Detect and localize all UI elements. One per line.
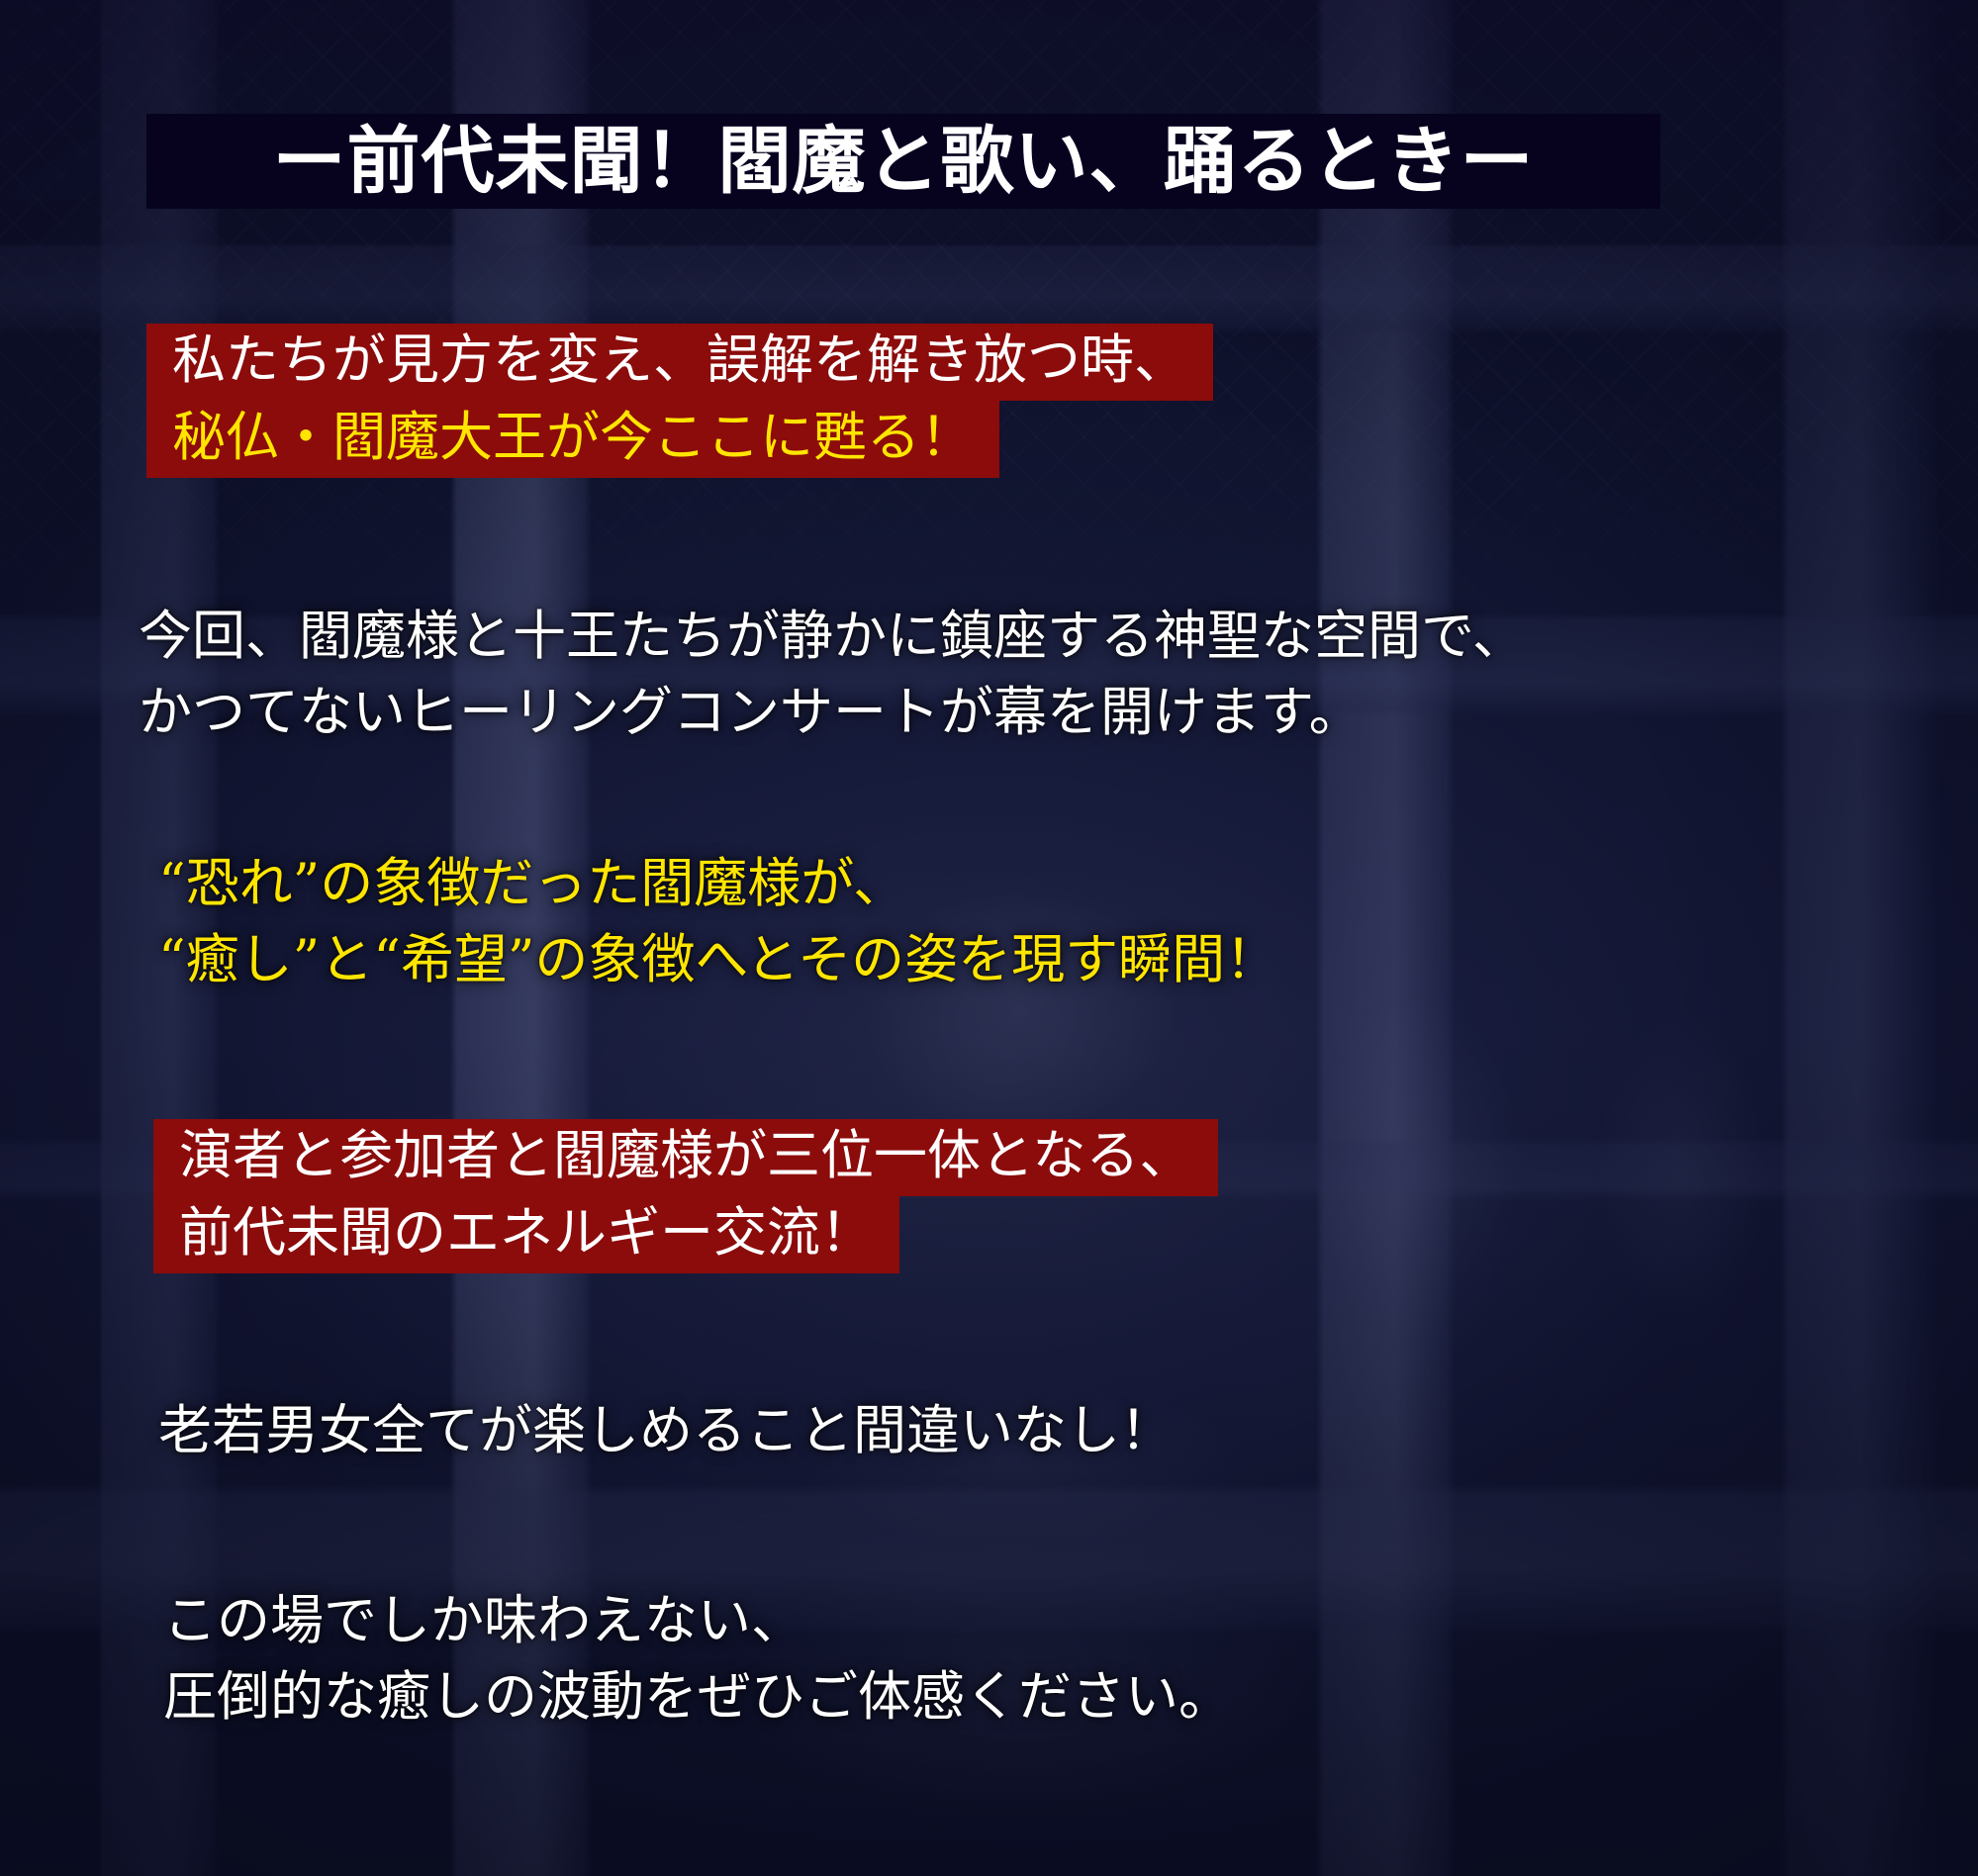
highlight-block-1: 私たちが見方を変え、誤解を解き放つ時、 秘仏・閻魔大王が今ここに甦る！ bbox=[146, 324, 1213, 478]
highlight-line: 演者と参加者と閻魔様が三位一体となる、 bbox=[153, 1119, 1218, 1196]
title-band: ー前代未聞！閻魔と歌い、踊るときー bbox=[146, 114, 1660, 209]
paragraph-closing: この場でしか味わえない、 圧倒的な癒しの波動をぜひご体感ください。 bbox=[163, 1583, 1232, 1735]
paragraph-line: 圧倒的な癒しの波動をぜひご体感ください。 bbox=[163, 1659, 1232, 1735]
paragraph-intro: 今回、閻魔様と十王たちが静かに鎮座する神聖な空間で、 かつてないヒーリングコンサ… bbox=[139, 599, 1526, 750]
highlight-block-2: 演者と参加者と閻魔様が三位一体となる、 前代未聞のエネルギー交流！ bbox=[153, 1119, 1218, 1273]
poster-root: ー前代未聞！閻魔と歌い、踊るときー 私たちが見方を変え、誤解を解き放つ時、 秘仏… bbox=[0, 0, 1978, 1876]
page-title: ー前代未聞！閻魔と歌い、踊るときー bbox=[273, 125, 1535, 198]
highlight-line: 前代未聞のエネルギー交流！ bbox=[153, 1196, 899, 1273]
paragraph-line: かつてないヒーリングコンサートが幕を開けます。 bbox=[139, 675, 1526, 751]
paragraph-line: “癒し”と“希望”の象徴へとその姿を現す瞬間！ bbox=[158, 922, 1278, 998]
poster-content: ー前代未聞！閻魔と歌い、踊るときー 私たちが見方を変え、誤解を解き放つ時、 秘仏… bbox=[0, 0, 1978, 1876]
paragraph-line: 今回、閻魔様と十王たちが静かに鎮座する神聖な空間で、 bbox=[139, 599, 1526, 675]
paragraph-symbol: “恐れ”の象徴だった閻魔様が、 “癒し”と“希望”の象徴へとその姿を現す瞬間！ bbox=[158, 846, 1278, 997]
highlight-line: 秘仏・閻魔大王が今ここに甦る！ bbox=[146, 401, 999, 478]
paragraph-line: 老若男女全てが楽しめること間違いなし！ bbox=[158, 1393, 1174, 1469]
highlight-line: 私たちが見方を変え、誤解を解き放つ時、 bbox=[146, 324, 1213, 401]
paragraph-line: “恐れ”の象徴だった閻魔様が、 bbox=[158, 846, 1278, 922]
paragraph-line: この場でしか味わえない、 bbox=[163, 1583, 1232, 1659]
paragraph-audience: 老若男女全てが楽しめること間違いなし！ bbox=[158, 1393, 1174, 1469]
